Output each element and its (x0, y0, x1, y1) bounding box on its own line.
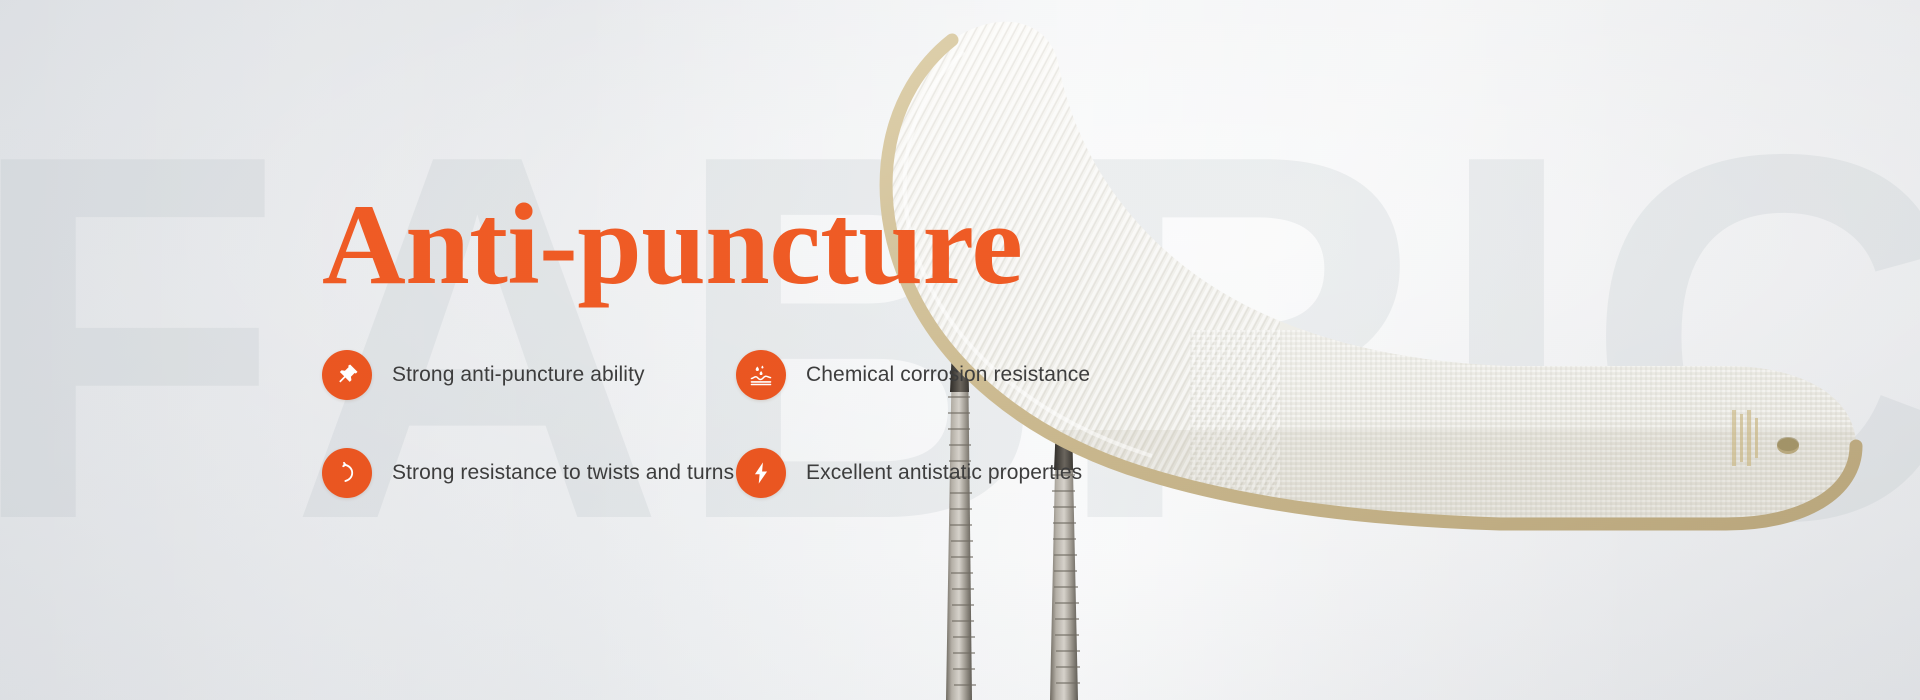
banner-copy: Anti-puncture Strong anti-puncture abili… (322, 186, 1082, 498)
watermark-letter-i: I (1434, 78, 1584, 598)
droplet-surface-icon (736, 350, 786, 400)
watermark-letter-c: C (1585, 78, 1920, 598)
feature-label: Chemical corrosion resistance (806, 363, 1090, 387)
product-feature-banner: F A B R I C (0, 0, 1920, 700)
insole-eyelet-hole (1777, 438, 1799, 454)
rotate-arrow-icon (322, 448, 372, 498)
pin-icon (322, 350, 372, 400)
page-title: Anti-puncture (322, 186, 1082, 304)
feature-item-anti-puncture: Strong anti-puncture ability (322, 350, 736, 400)
feature-label: Strong resistance to twists and turns (392, 461, 734, 485)
lightning-bolt-icon (736, 448, 786, 498)
feature-item-antistatic: Excellent antistatic properties (736, 448, 1090, 498)
watermark-letter-f: F (0, 78, 290, 598)
feature-label: Excellent antistatic properties (806, 461, 1082, 485)
feature-list: Strong anti-puncture ability Chemical co… (322, 350, 1082, 498)
feature-item-chemical-corrosion: Chemical corrosion resistance (736, 350, 1090, 400)
feature-label: Strong anti-puncture ability (392, 363, 645, 387)
insole-brand-stamp (1732, 410, 1758, 466)
feature-item-twist-resistance: Strong resistance to twists and turns (322, 448, 736, 498)
watermark-letter-r: R (1053, 78, 1435, 598)
